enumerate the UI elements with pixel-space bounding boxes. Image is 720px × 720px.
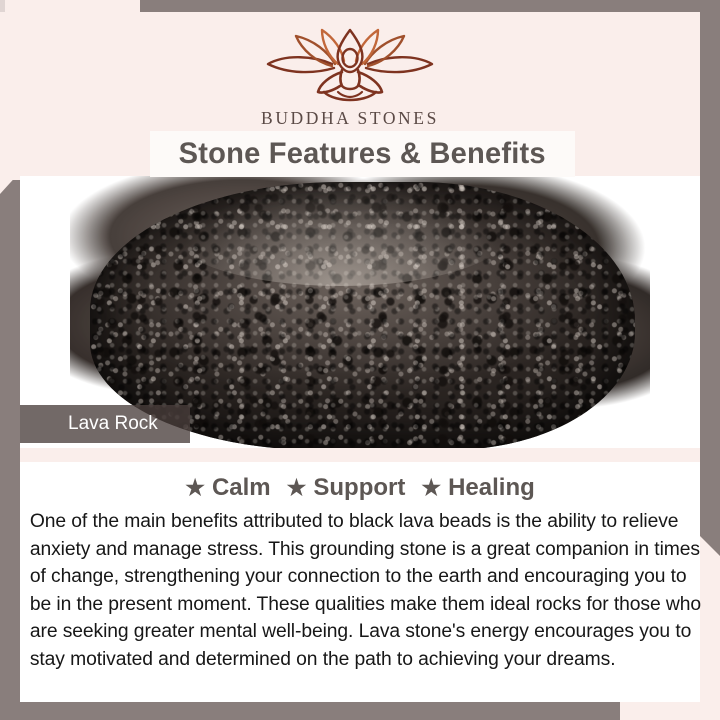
benefits-panel: ★ Calm ★ Support ★ Healing One of the ma… — [20, 462, 700, 702]
keyword-healing-label: Healing — [448, 474, 535, 502]
keyword-support: ★ Support — [287, 474, 406, 502]
star-icon: ★ — [287, 477, 307, 499]
rock-highlight — [170, 176, 510, 286]
photo-caption-bar: Lava Rock — [20, 405, 190, 443]
star-icon: ★ — [185, 477, 205, 499]
keyword-support-label: Support — [313, 474, 405, 502]
star-icon: ★ — [421, 477, 441, 499]
keyword-calm-label: Calm — [212, 474, 271, 502]
photo-caption-label: Lava Rock — [68, 413, 158, 435]
title-banner: Stone Features & Benefits — [150, 131, 575, 177]
lotus-meditation-icon — [260, 28, 440, 102]
frame-band-right — [698, 0, 720, 556]
keyword-calm: ★ Calm — [185, 474, 270, 502]
infographic-card: BUDDHA STONES Stone Features & Benefits … — [0, 0, 720, 720]
photo-text-separator — [20, 448, 700, 462]
benefits-description: One of the main benefits attributed to b… — [20, 508, 717, 673]
keyword-list: ★ Calm ★ Support ★ Healing — [20, 462, 700, 506]
page-title: Stone Features & Benefits — [179, 137, 546, 171]
frame-band-left — [0, 172, 20, 720]
keyword-healing: ★ Healing — [421, 474, 534, 502]
brand-name: BUDDHA STONES — [261, 108, 439, 129]
frame-band-bottom — [0, 702, 620, 720]
